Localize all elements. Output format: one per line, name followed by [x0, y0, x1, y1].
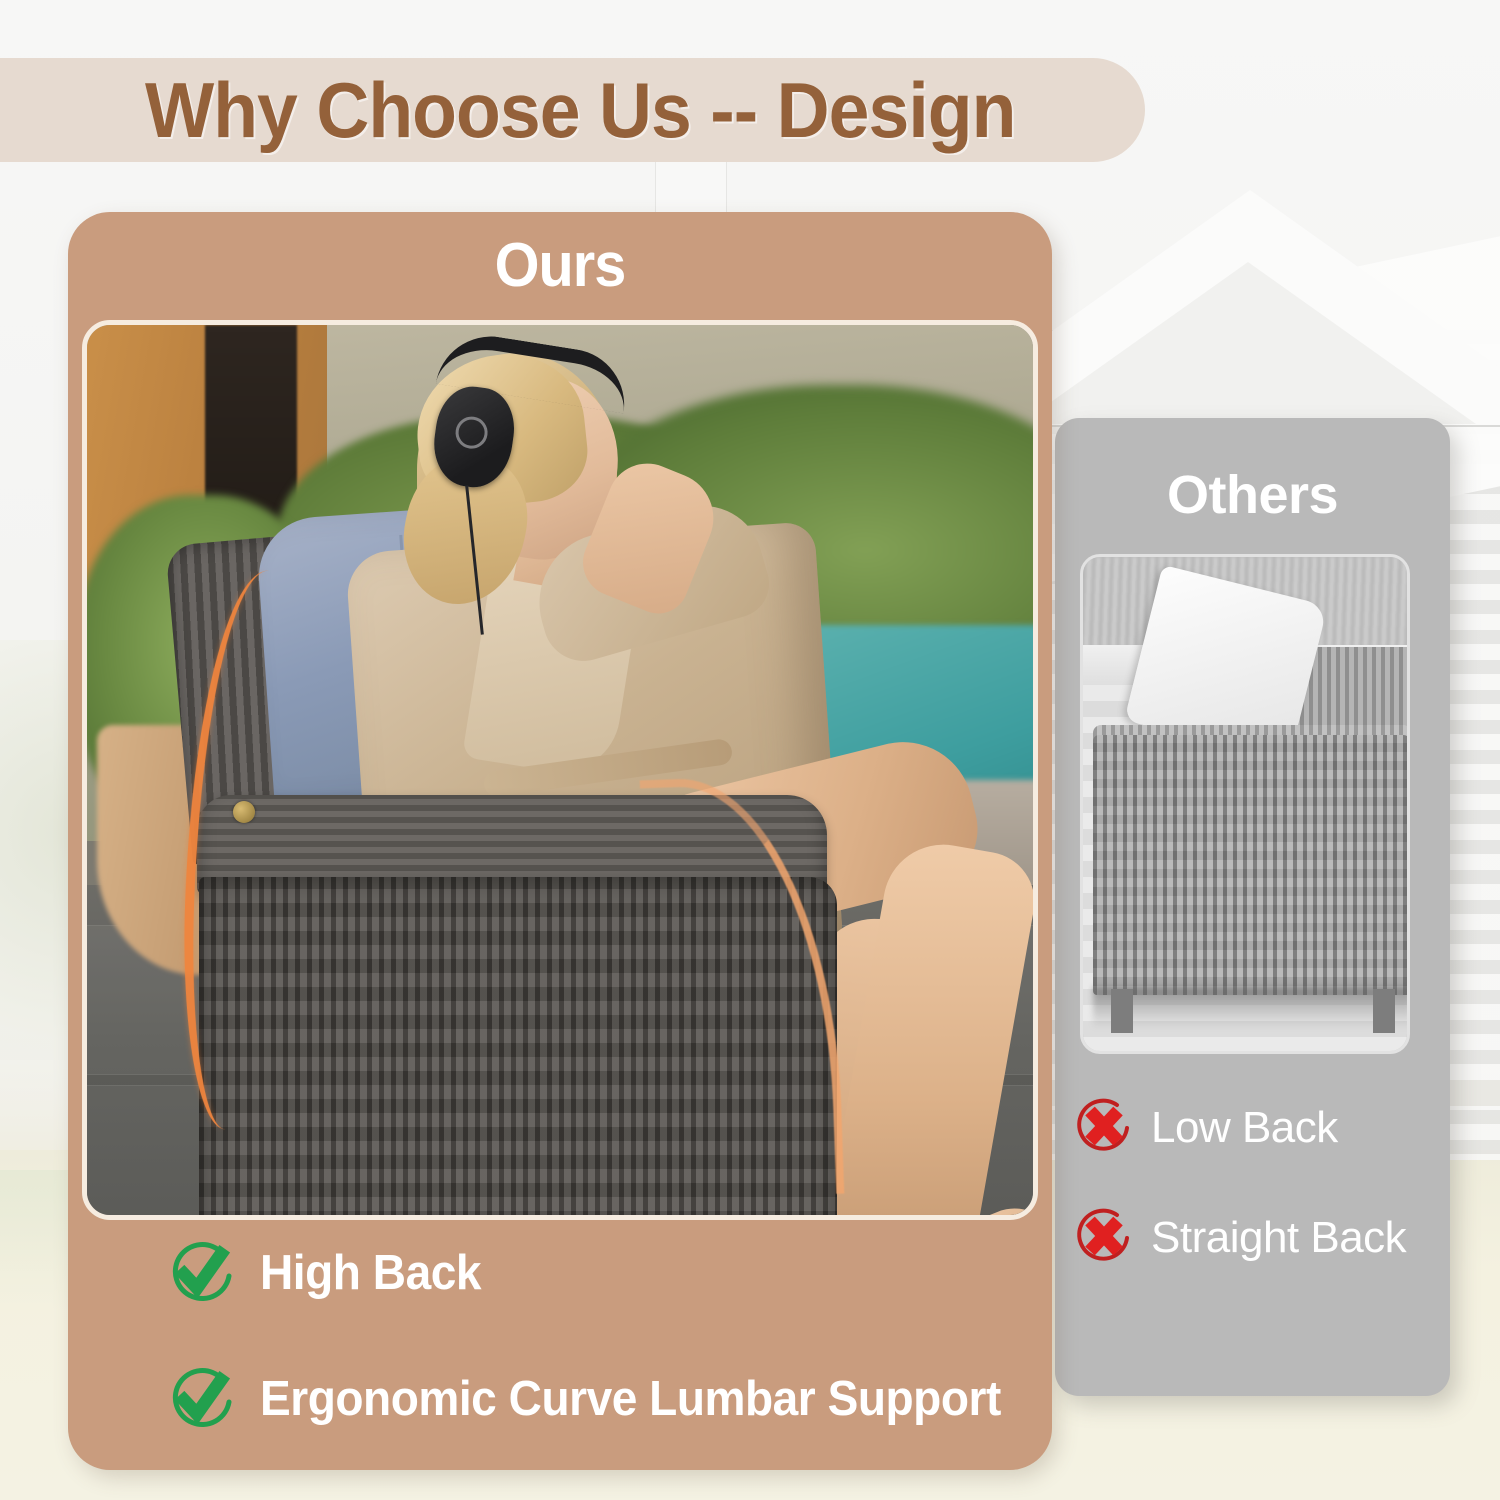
- others-panel: Others Low Back: [1055, 418, 1450, 1396]
- list-item: Straight Back: [1073, 1206, 1453, 1270]
- check-circle-icon: [164, 1362, 238, 1436]
- ours-feature-list: High Back Ergonomic Curve Lumbar Support: [164, 1236, 1044, 1488]
- others-label: Others: [1055, 464, 1450, 526]
- x-circle-icon: [1073, 1206, 1137, 1270]
- ours-label: Ours: [102, 230, 1017, 301]
- list-item: Low Back: [1073, 1096, 1453, 1160]
- others-photo-shadow: [1093, 987, 1410, 1029]
- page-title: Why Choose Us -- Design: [119, 65, 1016, 156]
- x-circle-icon: [1073, 1096, 1137, 1160]
- house-gable-inner: [1020, 262, 1476, 424]
- list-item-label: Straight Back: [1151, 1213, 1406, 1263]
- check-circle-icon: [164, 1236, 238, 1310]
- list-item-label: High Back: [260, 1245, 481, 1301]
- list-item-label: Ergonomic Curve Lumbar Support: [260, 1371, 1001, 1427]
- list-item-label: Low Back: [1151, 1103, 1338, 1153]
- others-feature-list: Low Back Straight Back: [1073, 1096, 1453, 1316]
- others-photo-sofa-body: [1093, 735, 1410, 995]
- list-item: High Back: [164, 1236, 1044, 1310]
- others-product-photo: [1080, 554, 1410, 1054]
- list-item: Ergonomic Curve Lumbar Support: [164, 1362, 1044, 1436]
- others-photo-sofa-leg: [1373, 989, 1395, 1033]
- title-banner: Why Choose Us -- Design: [0, 58, 1145, 162]
- ours-panel: Ours: [68, 212, 1052, 1470]
- ours-product-photo: [82, 320, 1038, 1220]
- others-photo-sofa-leg: [1111, 989, 1133, 1033]
